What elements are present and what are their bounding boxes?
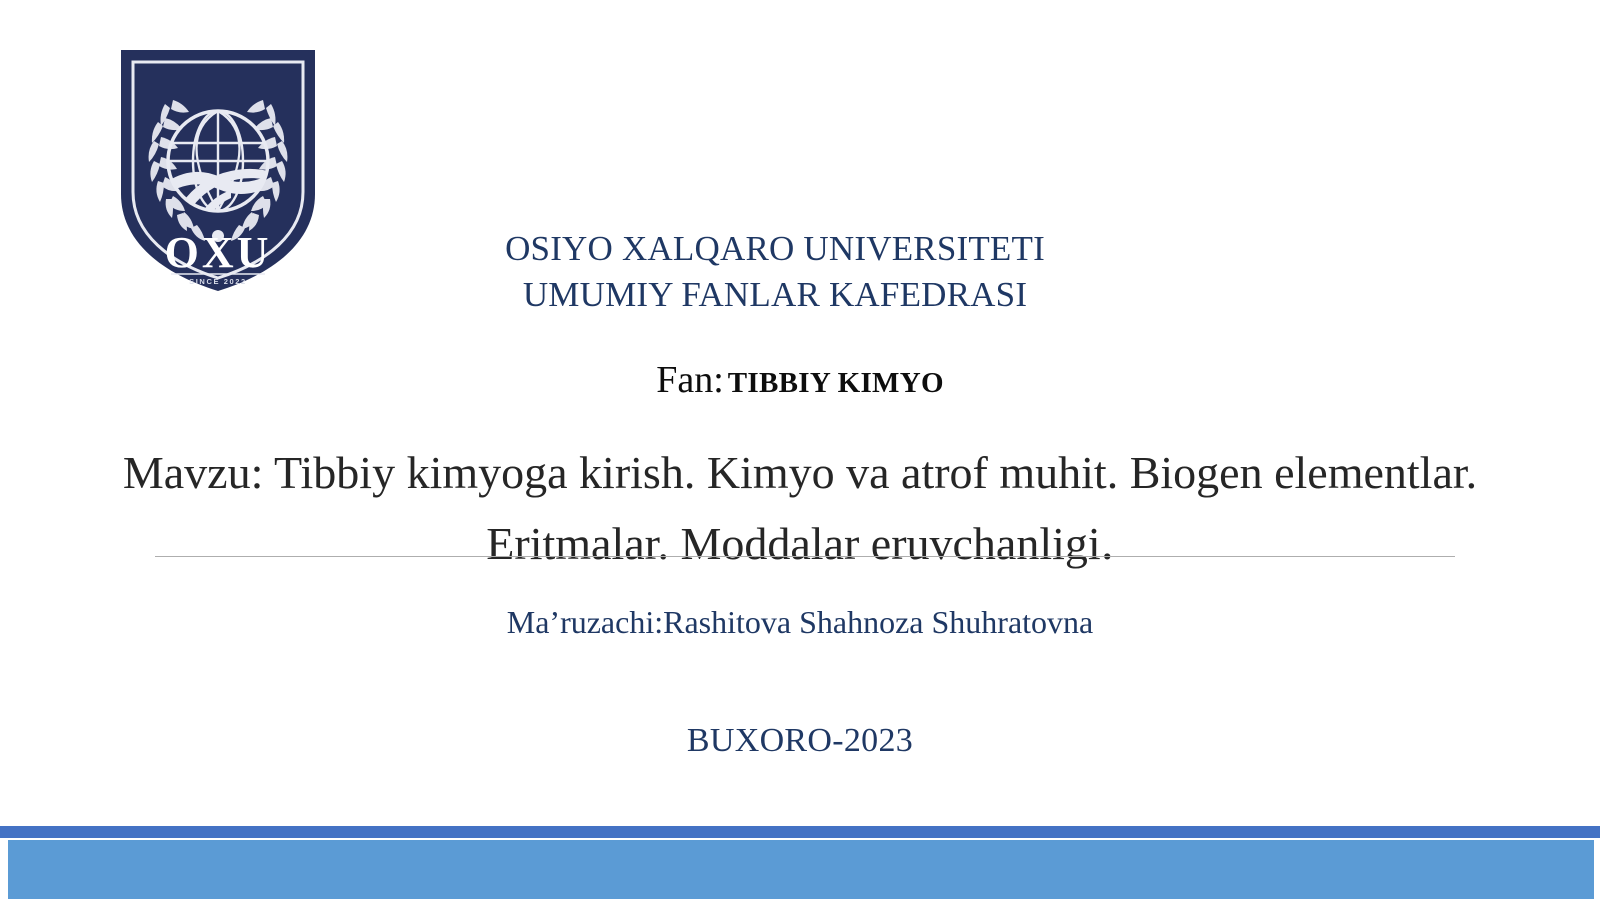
footer-bar-light — [8, 840, 1594, 899]
topic-text: Mavzu: Tibbiy kimyoga kirish. Kimyo va a… — [123, 447, 1477, 569]
university-heading: OSIYO XALQARO UNIVERSITETI UMUMIY FANLAR… — [330, 226, 1220, 318]
topic-title: Mavzu: Tibbiy kimyoga kirish. Kimyo va a… — [40, 440, 1560, 581]
presentation-title-slide: OXU SINCE 2022 OSIYO XALQARO UNIVERSITET… — [0, 0, 1600, 899]
topic-trailing-period: . — [1101, 514, 1114, 571]
department-name: UMUMIY FANLAR KAFEDRASI — [330, 272, 1220, 318]
city-year-footer: BUXORO-2023 — [0, 722, 1600, 760]
crest-icon: OXU SINCE 2022 — [113, 42, 323, 297]
subject-line: Fan: TIBBIY KIMYO — [0, 358, 1600, 402]
footer-bar-dark — [0, 826, 1600, 838]
subject-label: Fan: — [656, 359, 724, 401]
logo-founded-text: SINCE 2022 — [189, 277, 247, 286]
university-logo: OXU SINCE 2022 — [113, 42, 323, 297]
subject-value: TIBBIY KIMYO — [728, 367, 944, 399]
section-divider — [155, 556, 1455, 557]
university-name: OSIYO XALQARO UNIVERSITETI — [505, 229, 1045, 268]
lecturer-line: Ma’ruzachi:Rashitova Shahnoza Shuhratovn… — [0, 604, 1600, 641]
logo-acronym: OXU — [165, 228, 272, 277]
